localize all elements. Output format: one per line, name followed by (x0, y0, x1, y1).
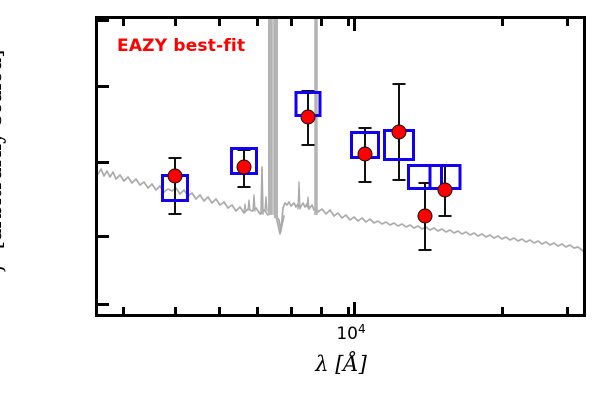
error-cap-upper (169, 157, 182, 159)
x-axis-title-unit: [Å] (335, 352, 367, 376)
data-point (237, 160, 252, 175)
data-point (392, 125, 407, 140)
sed-figure: fν [arbitrarily scaled] λ [Å] 0.20 0.15 … (0, 0, 600, 400)
x-tick-minor (290, 307, 293, 314)
data-point (438, 183, 453, 198)
x-axis-title-lambda: λ (315, 352, 328, 376)
data-point (418, 209, 433, 224)
error-cap-lower (359, 181, 372, 183)
plot-frame (95, 16, 586, 317)
x-tick-minor (256, 307, 259, 314)
x-tick-label-1e4: 104 (336, 322, 365, 344)
plot-area (98, 19, 583, 314)
x-tick-minor-top (501, 19, 504, 26)
y-axis-title-nu: ν (0, 256, 2, 263)
data-point (358, 147, 373, 162)
data-point (301, 110, 316, 125)
x-tick-minor (218, 307, 221, 314)
spectrum-line (98, 19, 583, 314)
y-axis-title-rest: [arbitrarily scaled] (0, 50, 6, 256)
x-tick-minor-top (256, 19, 259, 26)
y-axis-title: fν [arbitrarily scaled] (0, 50, 6, 271)
x-tick-minor (320, 307, 323, 314)
y-axis-title-f: f (0, 263, 6, 271)
error-cap-lower (393, 179, 406, 181)
x-tick-minor-top (347, 19, 350, 26)
x-tick-minor (347, 307, 350, 314)
x-tick-minor (174, 307, 177, 314)
error-cap-upper (359, 127, 372, 129)
x-tick-minor-top (122, 19, 125, 26)
error-cap-lower (419, 249, 432, 251)
error-cap-upper (393, 83, 406, 85)
error-cap-lower (439, 215, 452, 217)
x-tick-minor-top (320, 19, 323, 26)
x-tick-minor (122, 307, 125, 314)
error-cap-lower (302, 144, 315, 146)
x-tick-minor-top (566, 19, 569, 26)
x-tick-major-1e4 (353, 302, 356, 314)
error-cap-lower (238, 186, 251, 188)
y-tick-020 (98, 19, 109, 22)
x-tick-minor-top (218, 19, 221, 26)
data-point (168, 169, 183, 184)
error-cap-lower (169, 213, 182, 215)
x-tick-major-1e4-top (353, 19, 356, 31)
x-tick-minor-top (174, 19, 177, 26)
x-axis-title: λ [Å] (315, 352, 367, 376)
y-tick-000 (98, 303, 109, 306)
y-tick-015 (98, 85, 109, 88)
y-tick-010 (98, 161, 109, 164)
y-tick-005 (98, 235, 109, 238)
x-tick-minor-top (290, 19, 293, 26)
x-tick-minor (501, 307, 504, 314)
x-tick-minor (566, 307, 569, 314)
annotation-eazy-best-fit: EAZY best-fit (117, 36, 245, 56)
